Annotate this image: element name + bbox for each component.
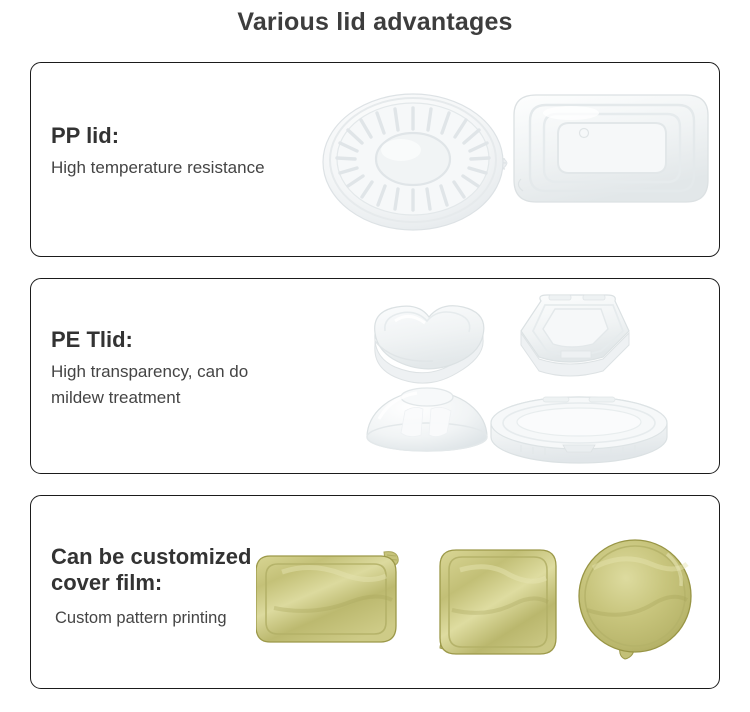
card-cover-film: Can be customized cover film: Custom pat… (30, 495, 720, 689)
dome-pe-lid-image (361, 379, 496, 459)
card-pp-lid-text: PP lid: High temperature resistance (51, 123, 351, 181)
card-pe-lid-text: PE Tlid: High transparency, can do milde… (51, 327, 351, 412)
heart-pe-lid-image (361, 291, 501, 386)
rectangular-pp-lid-image (501, 75, 716, 230)
card-pe-lid-subtext: High transparency, can do mildew treatme… (51, 359, 351, 412)
card-pp-lid-subtext: High temperature resistance (51, 155, 351, 181)
page-title: Various lid advantages (0, 8, 750, 37)
card-cover-film-heading: Can be customized cover film: (51, 544, 351, 596)
square-pe-lid-image (511, 289, 651, 384)
square-gold-foil-film-image (436, 544, 561, 662)
card-pp-lid-heading: PP lid: (51, 123, 351, 149)
oval-pe-lid-image (481, 389, 681, 469)
card-cover-film-text: Can be customized cover film: Custom pat… (51, 544, 351, 631)
round-pp-lid-image (321, 88, 521, 233)
card-pe-lid: PE Tlid: High transparency, can do milde… (30, 278, 720, 474)
round-gold-foil-film-image (571, 538, 706, 663)
card-cover-film-subtext: Custom pattern printing (51, 606, 351, 632)
card-pe-lid-heading: PE Tlid: (51, 327, 351, 353)
card-pp-lid: PP lid: High temperature resistance (30, 62, 720, 257)
